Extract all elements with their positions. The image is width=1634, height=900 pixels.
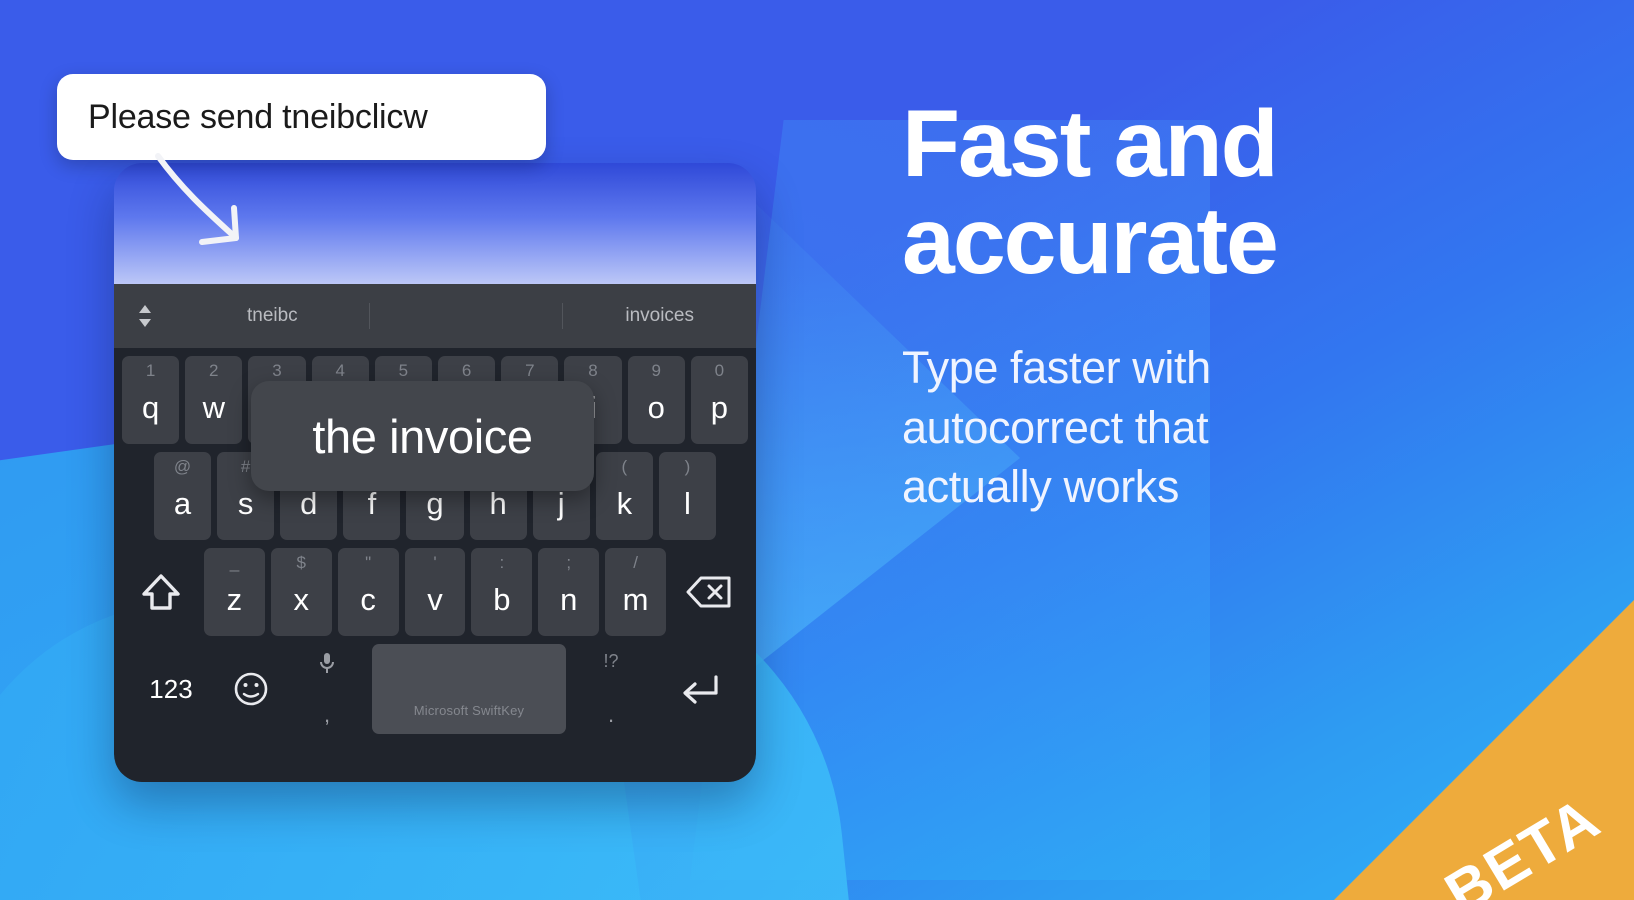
key-main-label: m	[623, 570, 649, 615]
headline-line-1: Fast and	[902, 96, 1502, 193]
headline-line-2: accurate	[902, 193, 1502, 290]
speech-bubble: Please send tneibclicw	[57, 74, 546, 160]
period-key[interactable]: !? .	[572, 644, 650, 734]
key-alt-label: /	[605, 554, 666, 571]
key-alt-label: "	[338, 554, 399, 571]
suggestion-item-0[interactable]: tneibc	[176, 305, 369, 327]
enter-key[interactable]	[656, 644, 742, 734]
suggestion-item-2[interactable]: invoices	[563, 305, 756, 327]
subcopy-line-1: Type faster with	[902, 338, 1502, 398]
mic-glyph	[288, 652, 366, 674]
key-alt-label: '	[405, 554, 466, 571]
key-m[interactable]: /m	[605, 548, 666, 636]
key-alt-label: $	[271, 554, 332, 571]
key-alt-label: 8	[564, 362, 621, 379]
key-alt-label: 2	[185, 362, 242, 379]
key-n[interactable]: ;n	[538, 548, 599, 636]
microphone-icon	[319, 652, 335, 674]
key-main-label: w	[203, 378, 225, 423]
key-main-label: x	[294, 570, 310, 615]
keyboard-row-4: 123	[118, 644, 752, 736]
key-o[interactable]: 9o	[628, 356, 685, 444]
marketing-copy: Fast and accurate Type faster with autoc…	[902, 96, 1502, 517]
key-alt-label: _	[204, 554, 265, 571]
prediction-tooltip[interactable]: the invoice	[251, 381, 594, 491]
key-main-label: c	[360, 570, 376, 615]
key-z[interactable]: _z	[204, 548, 265, 636]
key-main-label: a	[174, 474, 191, 519]
key-main-label: o	[648, 378, 665, 423]
key-alt-label: @	[154, 458, 211, 475]
key-alt-label: 4	[312, 362, 369, 379]
enter-return-icon	[676, 671, 722, 707]
microphone-key[interactable]: ,	[288, 644, 366, 734]
phone-screen-area	[114, 163, 756, 284]
backspace-key[interactable]	[672, 548, 746, 636]
key-w[interactable]: 2w	[185, 356, 242, 444]
period-key-label: .	[572, 704, 650, 726]
key-q[interactable]: 1q	[122, 356, 179, 444]
key-x[interactable]: $x	[271, 548, 332, 636]
suggestion-bar: tneibc invoices	[114, 284, 756, 348]
keyboard: tneibc invoices 1q2w3e4r5t6y7u8i9o0p @a#…	[114, 284, 756, 782]
key-main-label: s	[238, 474, 254, 519]
emoji-face-icon	[232, 670, 270, 708]
key-main-label: v	[427, 570, 443, 615]
key-p[interactable]: 0p	[691, 356, 748, 444]
space-key-label: Microsoft SwiftKey	[372, 703, 566, 718]
key-main-label: l	[684, 474, 691, 519]
key-main-label: n	[560, 570, 577, 615]
key-alt-label: 6	[438, 362, 495, 379]
key-main-label: z	[227, 570, 243, 615]
key-a[interactable]: @a	[154, 452, 211, 540]
symbol-alt-label: !?	[572, 652, 650, 670]
headline: Fast and accurate	[902, 96, 1502, 290]
prediction-tooltip-text: the invoice	[312, 409, 532, 464]
key-l[interactable]: )l	[659, 452, 716, 540]
beta-ribbon: BETA	[1334, 600, 1634, 900]
key-c[interactable]: "c	[338, 548, 399, 636]
key-b[interactable]: :b	[471, 548, 532, 636]
key-alt-label: :	[471, 554, 532, 571]
shift-arrow-icon	[140, 570, 182, 614]
keyboard-row-3: _z$x"c'v:b;n/m	[118, 548, 752, 644]
key-main-label: k	[617, 474, 633, 519]
phone-keyboard-panel: tneibc invoices 1q2w3e4r5t6y7u8i9o0p @a#…	[114, 163, 756, 782]
key-alt-label: 1	[122, 362, 179, 379]
suggestion-expand-icon[interactable]	[114, 301, 176, 331]
suggestion-divider	[369, 303, 370, 329]
speech-bubble-text: Please send tneibclicw	[88, 98, 428, 137]
subcopy: Type faster with autocorrect that actual…	[902, 338, 1502, 518]
numbers-key[interactable]: 123	[128, 644, 214, 734]
key-alt-label: ;	[538, 554, 599, 571]
comma-key-label: ,	[288, 704, 366, 726]
key-alt-label: )	[659, 458, 716, 475]
key-alt-label: (	[596, 458, 653, 475]
key-alt-label: 5	[375, 362, 432, 379]
space-key[interactable]: Microsoft SwiftKey	[372, 644, 566, 734]
backspace-icon	[685, 574, 733, 610]
key-alt-label: 9	[628, 362, 685, 379]
subcopy-line-3: actually works	[902, 457, 1502, 517]
key-alt-label: 7	[501, 362, 558, 379]
key-k[interactable]: (k	[596, 452, 653, 540]
key-v[interactable]: 'v	[405, 548, 466, 636]
key-alt-label: 0	[691, 362, 748, 379]
key-main-label: b	[493, 570, 510, 615]
shift-key[interactable]	[124, 548, 198, 636]
emoji-key[interactable]	[220, 644, 282, 734]
subcopy-line-2: autocorrect that	[902, 398, 1502, 458]
key-main-label: p	[711, 378, 728, 423]
key-main-label: q	[142, 378, 159, 423]
key-alt-label: 3	[248, 362, 305, 379]
